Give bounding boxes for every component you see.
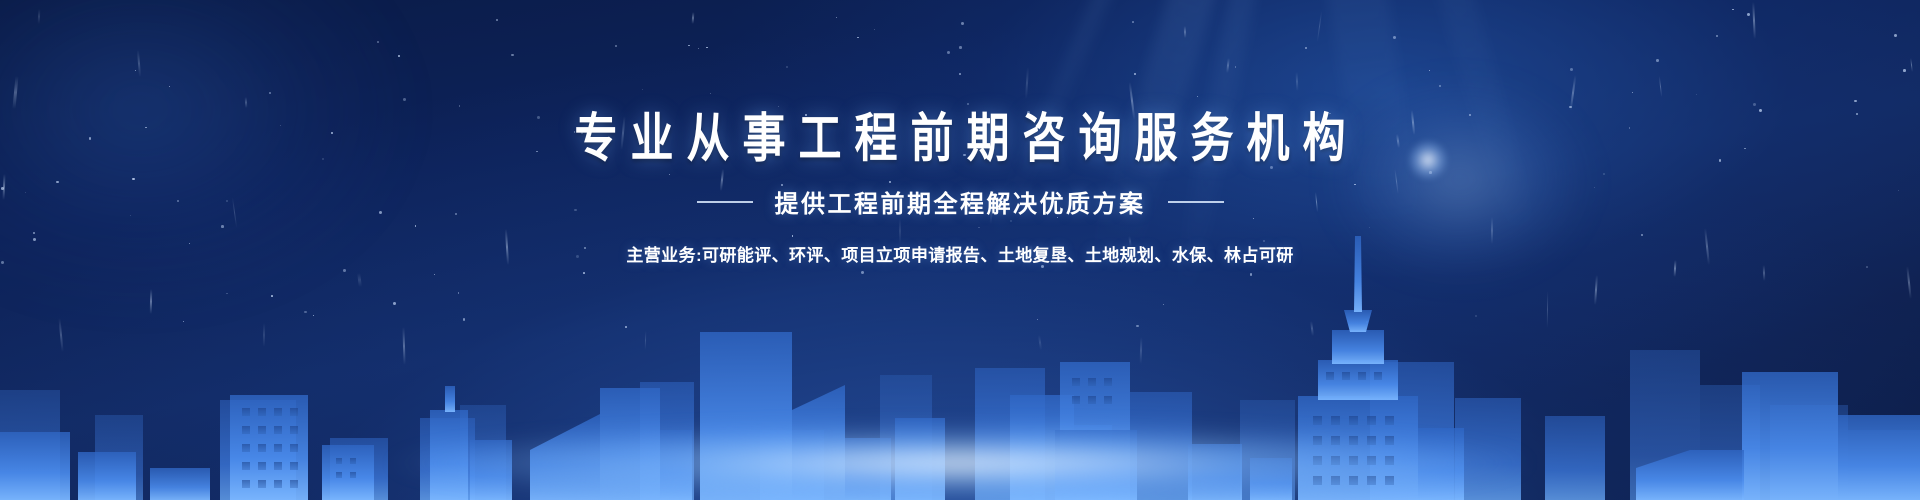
hero-banner: 专业从事工程前期咨询服务机构 提供工程前期全程解决优质方案 主营业务:可研能评、… (0, 0, 1920, 500)
banner-content: 专业从事工程前期咨询服务机构 提供工程前期全程解决优质方案 主营业务:可研能评、… (0, 0, 1920, 500)
banner-subtitle: 提供工程前期全程解决优质方案 (775, 184, 1146, 219)
right-dash-decoration (1168, 201, 1224, 203)
services-list-text: 主营业务:可研能评、环评、项目立项申请报告、土地复垦、土地规划、水保、林占可研 (626, 241, 1293, 266)
left-dash-decoration (697, 201, 753, 203)
page-title: 专业从事工程前期咨询服务机构 (562, 112, 1359, 167)
subtitle-row: 提供工程前期全程解决优质方案 (697, 184, 1224, 219)
